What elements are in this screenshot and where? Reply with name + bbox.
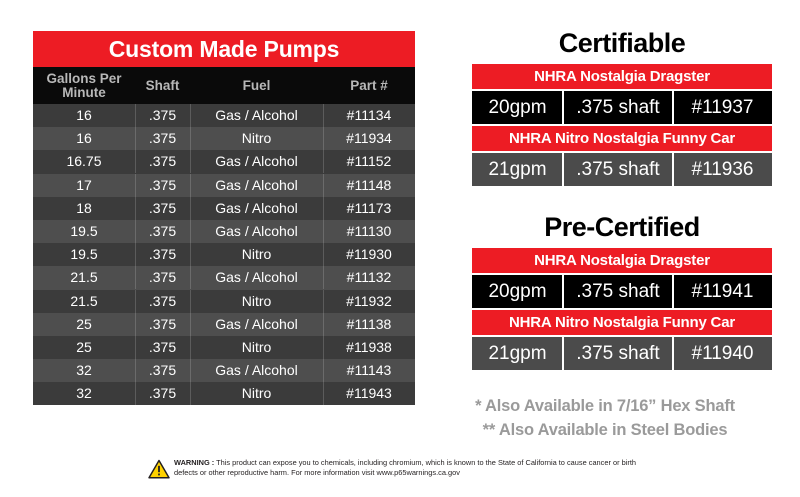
cert-banner: NHRA Nostalgia Dragster [472, 64, 772, 89]
table-row: 16.375Nitro#11934 [33, 127, 415, 150]
prop65-warning: WARNING : This product can expose you to… [0, 458, 800, 479]
cell-part-number: #11130 [323, 220, 415, 243]
table-row: 16.375Gas / Alcohol#11134 [33, 104, 415, 127]
cell-gallons-per-minute: 16 [33, 104, 135, 127]
cell-fuel: Nitro [190, 127, 323, 150]
cert-row: 20gpm.375 shaft#11941 [472, 275, 772, 308]
cell-gpm: 21gpm [472, 337, 563, 370]
prop65-warning-label: WARNING : [174, 458, 214, 467]
column-header-gallons-per-minute: Gallons Per Minute [33, 72, 135, 100]
cell-shaft: .375 [135, 266, 190, 289]
table-row: 17.375Gas / Alcohol#11148 [33, 174, 415, 197]
cell-gallons-per-minute: 25 [33, 336, 135, 359]
cell-part-number: #11173 [323, 197, 415, 220]
cell-gallons-per-minute: 19.5 [33, 243, 135, 266]
cell-shaft: .375 shaft [563, 275, 673, 308]
cell-shaft: .375 [135, 127, 190, 150]
cell-fuel: Gas / Alcohol [190, 266, 323, 289]
certifiable-section: Certifiable NHRA Nostalgia Dragster20gpm… [472, 28, 772, 186]
certifiable-title: Certifiable [472, 28, 772, 61]
cell-part-number: #11934 [323, 127, 415, 150]
table-row: 18.375Gas / Alcohol#11173 [33, 197, 415, 220]
cell-gpm: 20gpm [472, 275, 563, 308]
cell-gallons-per-minute: 32 [33, 382, 135, 405]
cell-shaft: .375 [135, 359, 190, 382]
cell-part-number: #11134 [323, 104, 415, 127]
column-header-part-number: Part # [323, 79, 415, 93]
cell-gallons-per-minute: 18 [33, 197, 135, 220]
cell-fuel: Gas / Alcohol [190, 104, 323, 127]
cell-fuel: Gas / Alcohol [190, 197, 323, 220]
prop65-warning-text: WARNING : This product can expose you to… [174, 458, 652, 477]
cell-shaft: .375 [135, 243, 190, 266]
cell-gallons-per-minute: 21.5 [33, 266, 135, 289]
cell-fuel: Nitro [190, 336, 323, 359]
cell-shaft: .375 [135, 174, 190, 197]
cell-shaft: .375 shaft [563, 337, 673, 370]
cell-shaft: .375 shaft [563, 91, 673, 124]
cell-shaft: .375 [135, 290, 190, 313]
cell-gallons-per-minute: 32 [33, 359, 135, 382]
cell-part-number: #11132 [323, 266, 415, 289]
footnotes: * Also Available in 7/16” Hex Shaft ** A… [430, 394, 780, 442]
pumps-table-title: Custom Made Pumps [33, 31, 415, 67]
footnote-steel-bodies: ** Also Available in Steel Bodies [430, 418, 780, 442]
cell-fuel: Gas / Alcohol [190, 174, 323, 197]
warning-triangle-icon [148, 459, 170, 479]
cell-part-number: #11143 [323, 359, 415, 382]
cell-shaft: .375 [135, 197, 190, 220]
table-row: 32.375Gas / Alcohol#11143 [33, 359, 415, 382]
cell-fuel: Nitro [190, 382, 323, 405]
table-row: 16.75.375Gas / Alcohol#11152 [33, 150, 415, 173]
cell-shaft: .375 [135, 220, 190, 243]
column-header-shaft: Shaft [135, 79, 190, 93]
table-row: 25.375Nitro#11938 [33, 336, 415, 359]
cell-part-number: #11148 [323, 174, 415, 197]
footnote-hex-shaft: * Also Available in 7/16” Hex Shaft [430, 394, 780, 418]
cert-row: 20gpm.375 shaft#11937 [472, 91, 772, 124]
pumps-table-header-row: Gallons Per Minute Shaft Fuel Part # [33, 67, 415, 104]
cell-part-number: #11930 [323, 243, 415, 266]
cert-banner: NHRA Nostalgia Dragster [472, 248, 772, 273]
cell-gallons-per-minute: 17 [33, 174, 135, 197]
cell-fuel: Nitro [190, 243, 323, 266]
cell-gallons-per-minute: 25 [33, 313, 135, 336]
cell-part-number: #11138 [323, 313, 415, 336]
cell-gallons-per-minute: 21.5 [33, 290, 135, 313]
precertified-title: Pre-Certified [472, 212, 772, 245]
custom-made-pumps-table: Custom Made Pumps Gallons Per Minute Sha… [33, 31, 415, 405]
precertified-section: Pre-Certified NHRA Nostalgia Dragster20g… [472, 212, 772, 370]
table-row: 21.5.375Nitro#11932 [33, 290, 415, 313]
cell-shaft: .375 [135, 150, 190, 173]
pumps-table-body: 16.375Gas / Alcohol#1113416.375Nitro#119… [33, 104, 415, 405]
cell-fuel: Gas / Alcohol [190, 150, 323, 173]
cell-fuel: Gas / Alcohol [190, 220, 323, 243]
table-row: 32.375Nitro#11943 [33, 382, 415, 405]
cell-part-number: #11940 [673, 337, 772, 370]
cell-shaft: .375 [135, 382, 190, 405]
cell-gallons-per-minute: 16.75 [33, 150, 135, 173]
cell-fuel: Gas / Alcohol [190, 359, 323, 382]
cell-gpm: 20gpm [472, 91, 563, 124]
cell-shaft: .375 shaft [563, 153, 673, 186]
cell-gallons-per-minute: 16 [33, 127, 135, 150]
cell-part-number: #11938 [323, 336, 415, 359]
cell-shaft: .375 [135, 336, 190, 359]
cell-part-number: #11937 [673, 91, 772, 124]
cert-banner: NHRA Nitro Nostalgia Funny Car [472, 126, 772, 151]
cell-fuel: Gas / Alcohol [190, 313, 323, 336]
cell-fuel: Nitro [190, 290, 323, 313]
cell-part-number: #11932 [323, 290, 415, 313]
table-row: 21.5.375Gas / Alcohol#11132 [33, 266, 415, 289]
table-row: 25.375Gas / Alcohol#11138 [33, 313, 415, 336]
cell-shaft: .375 [135, 104, 190, 127]
cert-banner: NHRA Nitro Nostalgia Funny Car [472, 310, 772, 335]
cell-gpm: 21gpm [472, 153, 563, 186]
certifiable-table: NHRA Nostalgia Dragster20gpm.375 shaft#1… [472, 64, 772, 186]
prop65-warning-body: This product can expose you to chemicals… [174, 458, 636, 477]
cell-part-number: #11941 [673, 275, 772, 308]
table-row: 19.5.375Nitro#11930 [33, 243, 415, 266]
cell-part-number: #11152 [323, 150, 415, 173]
cert-row: 21gpm.375 shaft#11936 [472, 153, 772, 186]
cell-shaft: .375 [135, 313, 190, 336]
precertified-table: NHRA Nostalgia Dragster20gpm.375 shaft#1… [472, 248, 772, 370]
cell-gallons-per-minute: 19.5 [33, 220, 135, 243]
cert-row: 21gpm.375 shaft#11940 [472, 337, 772, 370]
cell-part-number: #11943 [323, 382, 415, 405]
table-row: 19.5.375Gas / Alcohol#11130 [33, 220, 415, 243]
column-header-fuel: Fuel [190, 79, 323, 93]
cell-part-number: #11936 [673, 153, 772, 186]
